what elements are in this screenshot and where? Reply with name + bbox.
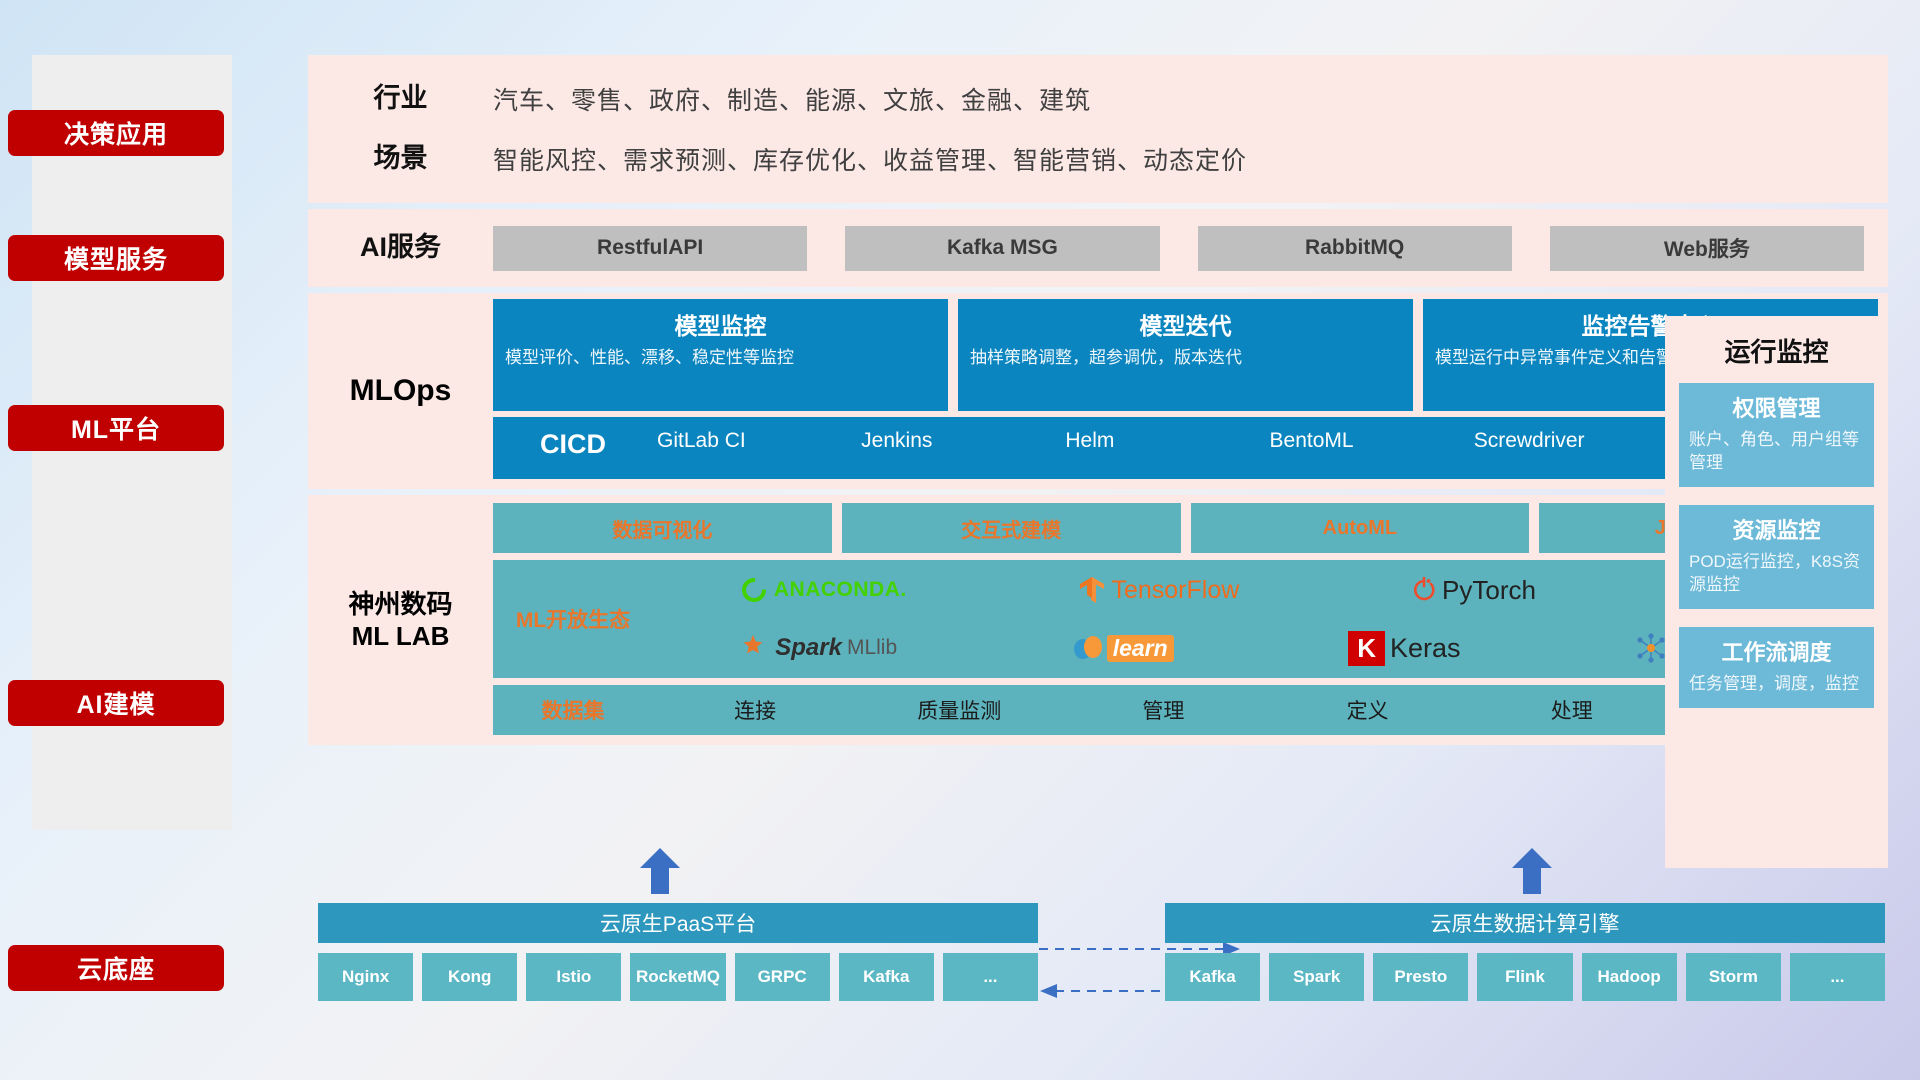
ml-lab-label-wrap: 神州数码ML LAB: [308, 495, 493, 745]
application-row-industry: 行业 汽车、零售、政府、制造、能源、文旅、金融、建筑: [308, 69, 1888, 129]
application-layer-band: 行业 汽车、零售、政府、制造、能源、文旅、金融、建筑 场景 智能风控、需求预测、…: [308, 55, 1888, 203]
anaconda-icon: [739, 575, 769, 605]
rail-item-cloud-base[interactable]: 云底座: [8, 945, 224, 991]
tool-chip-automl[interactable]: AutoML: [1191, 503, 1530, 553]
right-card-workflow-scheduling[interactable]: 工作流调度 任务管理，调度，监控: [1679, 627, 1874, 708]
mlops-card-model-monitoring[interactable]: 模型监控 模型评价、性能、漂移、稳定性等监控: [493, 299, 948, 411]
cloud-chip-group-paas: Nginx Kong Istio RocketMQ GRPC Kafka ...: [318, 953, 1038, 1001]
ml-ecosystem-label: ML开放生态: [493, 604, 653, 634]
cloud-chip-rocketmq[interactable]: RocketMQ: [630, 953, 725, 1001]
pytorch-label: PyTorch: [1442, 575, 1536, 606]
cloud-chip-istio[interactable]: Istio: [526, 953, 621, 1001]
spark-icon: [740, 633, 770, 663]
modeling-layer-band: 神州数码ML LAB 数据可视化 交互式建模 AutoML JupyterLab…: [308, 495, 1888, 745]
dataset-label: 数据集: [493, 695, 653, 725]
scenario-values: 智能风控、需求预测、库存优化、收益管理、智能营销、动态定价: [493, 141, 1247, 177]
up-arrow-right-icon: [1512, 848, 1552, 894]
industry-values: 汽车、零售、政府、制造、能源、文旅、金融、建筑: [493, 81, 1091, 117]
rail-label: 云底座: [77, 950, 155, 986]
pytorch-icon: [1411, 575, 1437, 605]
service-chip-restfulapi[interactable]: RestfulAPI: [493, 226, 807, 271]
service-chip-web-service[interactable]: Web服务: [1550, 226, 1864, 271]
rail-label: 决策应用: [64, 115, 168, 151]
scikit-icon: [1072, 633, 1102, 663]
mlops-label: MLOps: [350, 374, 452, 408]
card-desc: 模型评价、性能、漂移、稳定性等监控: [505, 347, 936, 370]
application-row-scenario: 场景 智能风控、需求预测、库存优化、收益管理、智能营销、动态定价: [308, 129, 1888, 189]
tool-chip-data-visualization[interactable]: 数据可视化: [493, 503, 832, 553]
cloud-chip-presto[interactable]: Presto: [1373, 953, 1468, 1001]
card-desc: 抽样策略调整，超参调优，版本迭代: [970, 347, 1401, 370]
ml-lab-label: 神州数码ML LAB: [348, 588, 452, 653]
cloud-chip-storm[interactable]: Storm: [1686, 953, 1781, 1001]
ml-lab-label-line1: 神州数码: [348, 589, 452, 619]
card-desc: POD运行监控，K8S资源监控: [1689, 551, 1864, 597]
anaconda-logo: ANACONDA.: [739, 575, 907, 605]
industry-label: 行业: [308, 82, 493, 116]
cloud-chip-flink[interactable]: Flink: [1477, 953, 1572, 1001]
ml-lab-label-line2: ML LAB: [352, 621, 450, 651]
keras-k-icon: K: [1348, 631, 1385, 666]
mlops-label-wrap: MLOps: [308, 293, 493, 489]
dataset-item-manage[interactable]: 管理: [1061, 695, 1265, 725]
cloud-chip-grpc[interactable]: GRPC: [735, 953, 830, 1001]
rail-item-model-service[interactable]: 模型服务: [8, 235, 224, 281]
cicd-item-bentoml[interactable]: BentoML: [1266, 429, 1470, 453]
rail-item-decision-app[interactable]: 决策应用: [8, 110, 224, 156]
cloud-chip-kong[interactable]: Kong: [422, 953, 517, 1001]
anaconda-label: ANACONDA.: [774, 578, 907, 602]
card-desc: 账户、角色、用户组等管理: [1689, 429, 1864, 475]
card-title: 工作流调度: [1689, 635, 1864, 667]
cloud-base-layer: 云原生PaaS平台 云原生数据计算引擎 Nginx Kong Istio Roc…: [310, 890, 1890, 1040]
mlops-card-model-iteration[interactable]: 模型迭代 抽样策略调整，超参调优，版本迭代: [958, 299, 1413, 411]
dataset-item-connect[interactable]: 连接: [653, 695, 857, 725]
cicd-item-screwdriver[interactable]: Screwdriver: [1470, 429, 1674, 453]
dataset-item-quality-monitor[interactable]: 质量监测: [857, 695, 1061, 725]
cloud-chip-hadoop[interactable]: Hadoop: [1582, 953, 1677, 1001]
card-title: 资源监控: [1689, 513, 1864, 545]
card-title: 权限管理: [1689, 391, 1864, 423]
tensorflow-icon: [1078, 575, 1106, 605]
rail-label: AI建模: [76, 685, 155, 721]
keras-logo: K Keras: [1348, 631, 1460, 666]
up-arrow-left-icon: [640, 848, 680, 894]
cicd-item-helm[interactable]: Helm: [1061, 429, 1265, 453]
dataset-item-define[interactable]: 定义: [1266, 695, 1470, 725]
spark-mllib-logo: Spark MLlib: [740, 633, 897, 663]
tensorflow-logo: TensorFlow: [1078, 575, 1239, 605]
cloud-chip-kafka-right[interactable]: Kafka: [1165, 953, 1260, 1001]
service-layer-band: AI服务 RestfulAPI Kafka MSG RabbitMQ Web服务: [308, 209, 1888, 287]
cloud-chip-more-left[interactable]: ...: [943, 953, 1038, 1001]
right-card-resource-monitoring[interactable]: 资源监控 POD运行监控，K8S资源监控: [1679, 505, 1874, 609]
cicd-title: CICD: [493, 429, 653, 460]
architecture-main: 行业 汽车、零售、政府、制造、能源、文旅、金融、建筑 场景 智能风控、需求预测、…: [308, 55, 1888, 751]
rail-item-ai-modeling[interactable]: AI建模: [8, 680, 224, 726]
cloud-chip-nginx[interactable]: Nginx: [318, 953, 413, 1001]
networkx-icon: [1635, 633, 1667, 663]
rail-label: 模型服务: [64, 240, 168, 276]
keras-label: Keras: [1390, 633, 1461, 664]
scenario-label: 场景: [308, 142, 493, 176]
pytorch-logo: PyTorch: [1411, 575, 1536, 606]
cloud-chip-group-data-engine: Kafka Spark Presto Flink Hadoop Storm ..…: [1165, 953, 1885, 1001]
mlops-layer-band: MLOps 模型监控 模型评价、性能、漂移、稳定性等监控 模型迭代 抽样策略调整…: [308, 293, 1888, 489]
rail-item-ml-platform[interactable]: ML平台: [8, 405, 224, 451]
ai-service-label: AI服务: [308, 231, 493, 265]
card-title: 模型迭代: [970, 307, 1401, 341]
scikit-learn-logo: learn: [1072, 633, 1174, 663]
tensorflow-label: TensorFlow: [1111, 576, 1239, 605]
tool-chip-interactive-modeling[interactable]: 交互式建模: [842, 503, 1181, 553]
service-chip-kafka-msg[interactable]: Kafka MSG: [845, 226, 1159, 271]
scikit-label: learn: [1107, 635, 1174, 662]
cloud-bar-paas[interactable]: 云原生PaaS平台: [318, 903, 1038, 943]
cicd-item-jenkins[interactable]: Jenkins: [857, 429, 1061, 453]
right-card-permission-management[interactable]: 权限管理 账户、角色、用户组等管理: [1679, 383, 1874, 487]
cloud-bar-data-engine[interactable]: 云原生数据计算引擎: [1165, 903, 1885, 943]
dataset-item-process[interactable]: 处理: [1470, 695, 1674, 725]
right-rail-title: 运行监控: [1679, 332, 1874, 369]
right-rail-monitoring: 运行监控 权限管理 账户、角色、用户组等管理 资源监控 POD运行监控，K8S资…: [1665, 316, 1888, 868]
cloud-chip-spark[interactable]: Spark: [1269, 953, 1364, 1001]
card-desc: 任务管理，调度，监控: [1689, 673, 1864, 696]
rail-label: ML平台: [71, 410, 161, 446]
cloud-chip-kafka[interactable]: Kafka: [839, 953, 934, 1001]
service-chip-group: RestfulAPI Kafka MSG RabbitMQ Web服务: [493, 226, 1888, 271]
spark-label: Spark: [775, 634, 842, 662]
cicd-item-gitlab-ci[interactable]: GitLab CI: [653, 429, 857, 453]
mllib-label: MLlib: [847, 636, 897, 660]
service-chip-rabbitmq[interactable]: RabbitMQ: [1198, 226, 1512, 271]
cloud-chip-more-right[interactable]: ...: [1790, 953, 1885, 1001]
card-title: 模型监控: [505, 307, 936, 341]
